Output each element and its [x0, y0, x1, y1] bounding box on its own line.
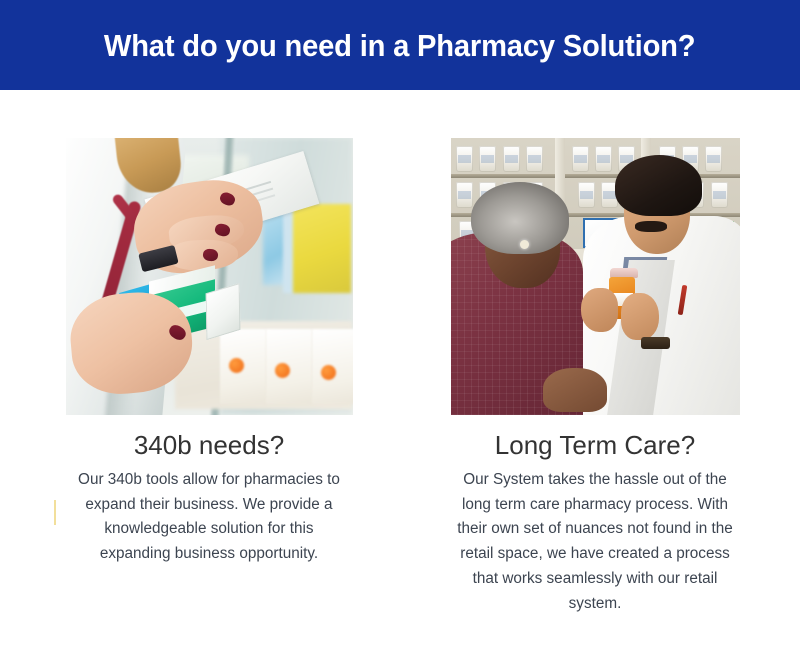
lower-shelf-package [266, 329, 312, 404]
card-340b: 340b needs? Our 340b tools allow for pha… [16, 90, 402, 567]
shelf-pill-bottle [705, 146, 722, 172]
patient-hands [543, 368, 607, 412]
card-heading: 340b needs? [134, 431, 284, 461]
shelf-pill-bottle [526, 146, 543, 172]
shelf-pill-bottle [578, 182, 595, 208]
pharmacist-hand [581, 288, 619, 332]
pharmacist-hand [621, 293, 659, 340]
package-orange-dot [275, 363, 290, 378]
card-body-text: Our 340b tools allow for pharmacies to e… [71, 468, 347, 567]
shelf-pill-bottle [595, 146, 612, 172]
shelf-pill-bottle [456, 146, 473, 172]
shelf-yellow-package [283, 204, 351, 293]
shelf-pill-bottle [456, 182, 473, 208]
page-header-banner: What do you need in a Pharmacy Solution? [0, 0, 800, 90]
pharmacist-holding-prescription-and-medicine-box-photo [66, 138, 353, 415]
pharmacist-counseling-senior-patient-photo [451, 138, 740, 415]
shelf-pill-bottle [479, 146, 496, 172]
shelf-pill-bottle [503, 146, 520, 172]
card-long-term-care: Long Term Care? Our System takes the has… [402, 90, 788, 616]
cards-container: 340b needs? Our 340b tools allow for pha… [0, 90, 800, 652]
page-title: What do you need in a Pharmacy Solution? [104, 30, 696, 61]
decorative-artifact-line [54, 500, 56, 525]
shelf-pill-bottle [711, 182, 728, 208]
card-heading: Long Term Care? [495, 431, 695, 461]
pharmacist-hair [615, 155, 702, 216]
medicine-box-end-flap [206, 282, 241, 339]
wristwatch [641, 337, 670, 348]
shelf-pill-bottle [572, 146, 589, 172]
card-body-text: Our System takes the hassle out of the l… [452, 468, 738, 617]
pharmacist-mustache [635, 221, 667, 232]
